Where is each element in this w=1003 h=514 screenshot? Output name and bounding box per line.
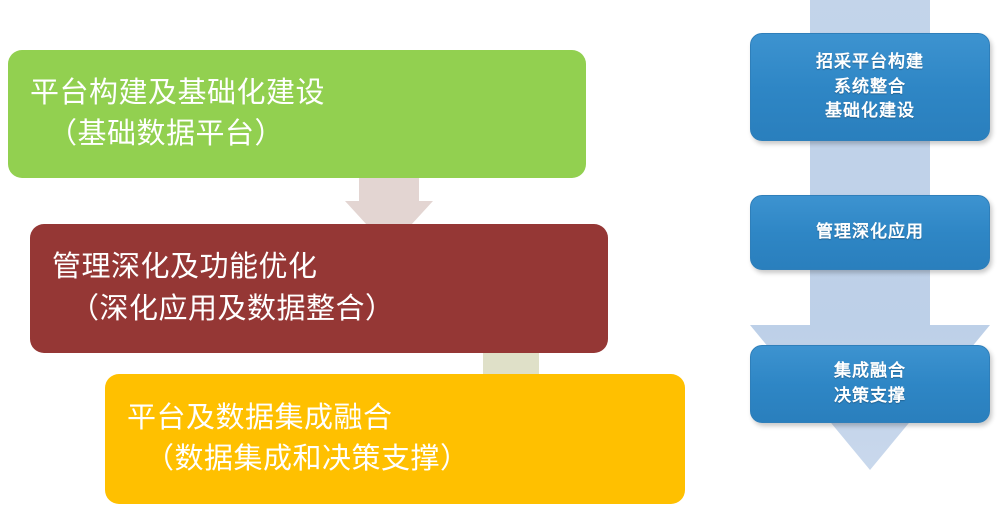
milestone-line-1: 集成融合 [834, 359, 906, 384]
milestone-line-2: 系统整合 [834, 75, 906, 100]
stage-line-primary: 平台构建及基础化建设 [30, 73, 564, 114]
stage-line-secondary: （数据集成和决策支撑） [127, 439, 663, 480]
stage-line-primary: 管理深化及功能优化 [52, 247, 586, 288]
milestone-box-1[interactable]: 招采平台构建 系统整合 基础化建设 [750, 33, 990, 141]
stage-line-secondary: （深化应用及数据整合） [52, 289, 586, 330]
diagram-canvas: 平台构建及基础化建设 （基础数据平台） 管理深化及功能优化 （深化应用及数据整合… [0, 0, 1003, 514]
milestone-line-2: 决策支撑 [834, 384, 906, 409]
milestone-box-3[interactable]: 集成融合 决策支撑 [750, 345, 990, 423]
milestone-line-3: 基础化建设 [825, 99, 915, 124]
stage-line-secondary: （基础数据平台） [30, 114, 564, 155]
milestone-box-2[interactable]: 管理深化应用 [750, 195, 990, 270]
stage-line-primary: 平台及数据集成融合 [127, 398, 663, 439]
milestone-line-1: 招采平台构建 [816, 50, 924, 75]
milestone-line-1: 管理深化应用 [816, 220, 924, 245]
stage-box-deepening[interactable]: 管理深化及功能优化 （深化应用及数据整合） [30, 224, 608, 353]
stage-box-integration[interactable]: 平台及数据集成融合 （数据集成和决策支撑） [105, 374, 685, 504]
stage-box-foundation[interactable]: 平台构建及基础化建设 （基础数据平台） [8, 50, 586, 178]
